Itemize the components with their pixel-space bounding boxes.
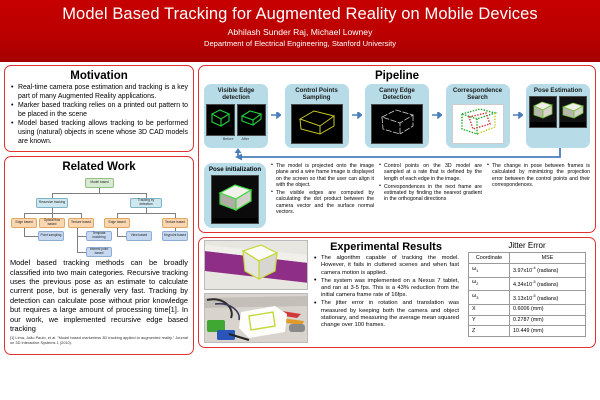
arrow-icon [271,84,281,148]
tree-node-edge-based-det: Edge based [104,218,130,228]
pipeline-details: Pose initialization [204,163,590,228]
left-column: Motivation Real-time camera pose estimat… [4,65,194,359]
experimental-results-title: Experimental Results [313,240,459,254]
pipeline-text-col-1: The model is projected onto the image pl… [270,163,374,228]
list-item: The change in pose between frames is cal… [486,163,590,189]
tree-node-interest-point: Interest point based [86,247,112,257]
stage-label: Control Points Sampling [287,87,347,102]
arrow-icon [352,84,362,148]
affiliation: Department of Electrical Engineering, St… [0,38,600,49]
thumb-pose-b [559,96,587,128]
related-work-panel: Related Work [4,156,194,355]
cell-coordinate: Z [469,326,510,337]
column-header-mse: MSE [510,253,586,264]
caption-before: Before [223,137,234,141]
thumb-edges-after [237,104,266,136]
result-photos [204,240,308,343]
cell-coordinate: ω1 [469,264,510,278]
thumb-edges-before [206,104,235,136]
table-header-row: Coordinate MSE [469,253,586,264]
stage-label: Canny Edge Detection [367,87,427,102]
experimental-results-panel: Experimental Results The algorithm capab… [198,237,596,348]
pipeline-feedback-loop [204,148,590,162]
related-work-paragraph: Model based tracking methods can be broa… [10,258,188,333]
motivation-bullets: Real-time camera pose estimation and tra… [10,84,188,146]
caption-after: After [242,137,250,141]
list-item: Real-time camera pose estimation and tra… [10,84,188,101]
tree-node-edge-based-rec: Edge based [11,218,37,228]
pipeline-text-col-2: Control points on the 3D model are sampl… [378,163,482,228]
table-row: ω13.97x10-4 (radians) [469,264,586,278]
pipeline-stage-correspondence: Correspondence Search [446,84,510,148]
list-item: The algorithm capable of tracking the mo… [313,255,459,277]
tree-node-optical-flow: Optical flow based [39,218,65,228]
photo-tracked-box-purple [204,240,308,290]
stage-label: Visible Edge detection [206,87,266,102]
stage-label: Pose initialization [206,166,264,173]
tree-node-texture-rec: Texture based [68,218,94,228]
cell-mse: 3.97x10-4 (radians) [510,264,586,278]
cell-mse: 0.6006 (mm) [510,304,586,315]
reference-1: [1] Lima, João Paulo, et al. "Model base… [10,336,188,346]
thumb-control-points [291,104,343,144]
pipeline-stage-pose-init: Pose initialization [204,163,266,228]
table-row: ω24.34x10-5 (radians) [469,277,586,291]
thumb-pose-a [529,96,557,128]
cell-mse: 3.13x10-5 (radians) [510,291,586,305]
pipeline-stages: Visible Edge detection [204,84,590,148]
pipeline-stage-visible-edge: Visible Edge detection [204,84,268,148]
stage-label: Correspondence Search [448,87,508,102]
list-item: The system was implemented on a Nexus 7 … [313,278,459,300]
pipeline-stage-pose-estimation: Pose Estimation [526,84,590,148]
cell-mse: 0.2787 (mm) [510,315,586,326]
cell-coordinate: Y [469,315,510,326]
thumb-canny-edge [371,104,423,144]
list-item: The visible edges are computed by calcul… [270,190,374,216]
table-body: ω13.97x10-4 (radians)ω24.34x10-5 (radian… [469,264,586,337]
tree-node-template-matching: Template matching [86,231,112,241]
right-column: Pipeline Visible Edge detection [198,65,596,352]
motivation-panel: Motivation Real-time camera pose estimat… [4,65,194,152]
pipeline-stage-canny-edge: Canny Edge Detection [365,84,429,148]
column-header-coordinate: Coordinate [469,253,510,264]
pipeline-stage-control-points: Control Points Sampling [285,84,349,148]
tree-node-view-based: View based [126,231,152,241]
author-list: Abhilash Sunder Raj, Michael Lowney [0,26,600,38]
list-item: Model based tracking allows tracking to … [10,120,188,146]
table-row: ω33.13x10-5 (radians) [469,291,586,305]
page-title: Model Based Tracking for Augmented Reali… [0,5,600,24]
cell-mse: 10.449 (mm) [510,326,586,337]
jitter-error-table: Coordinate MSE ω13.97x10-4 (radians)ω24.… [468,252,586,337]
stage-label: Pose Estimation [528,87,588,94]
jitter-error-block: Jitter Error Coordinate MSE ω13.97x10-4 … [464,240,590,343]
arrow-icon [432,84,442,148]
related-work-title: Related Work [10,160,188,174]
table-row: Y0.2787 (mm) [469,315,586,326]
tree-node-detection: Tracking by detection [130,198,162,208]
cell-coordinate: ω3 [469,291,510,305]
photo-cluttered-desk [204,293,308,343]
tree-node-texture-det: Texture based [162,218,188,228]
tree-node-root: Model based [85,178,114,188]
poster-body: Motivation Real-time camera pose estimat… [0,62,600,400]
thumb-correspondence [452,104,504,144]
cell-coordinate: X [469,304,510,315]
cell-coordinate: ω2 [469,277,510,291]
table-row: Z10.449 (mm) [469,326,586,337]
tree-node-keypoint-based: Keypoint based [162,231,188,241]
list-item: The jitter error in rotation and transla… [313,300,459,329]
pipeline-title: Pipeline [204,69,590,83]
tree-node-point-sampling: Point sampling [38,231,64,241]
tree-node-recursive: Recursive tracking [36,198,68,208]
motivation-title: Motivation [10,69,188,83]
pipeline-panel: Pipeline Visible Edge detection [198,65,596,233]
experimental-text: Experimental Results The algorithm capab… [313,240,459,343]
list-item: Control points on the 3D model are sampl… [378,163,482,182]
cell-mse: 4.34x10-5 (radians) [510,277,586,291]
table-row: X0.6006 (mm) [469,304,586,315]
pipeline-text-col-3: The change in pose between frames is cal… [486,163,590,228]
thumb-pose-init [211,175,259,224]
taxonomy-diagram: Model based Recursive tracking Tracking … [10,176,188,256]
list-item: Correspondences in the next frame are es… [378,184,482,203]
poster-header: Model Based Tracking for Augmented Reali… [0,0,600,62]
poster-root: Model Based Tracking for Augmented Reali… [0,0,600,400]
jitter-table-title: Jitter Error [464,240,590,251]
arrow-icon [513,84,523,148]
list-item: The model is projected onto the image pl… [270,163,374,189]
list-item: Marker based tracking relies on a printe… [10,102,188,119]
